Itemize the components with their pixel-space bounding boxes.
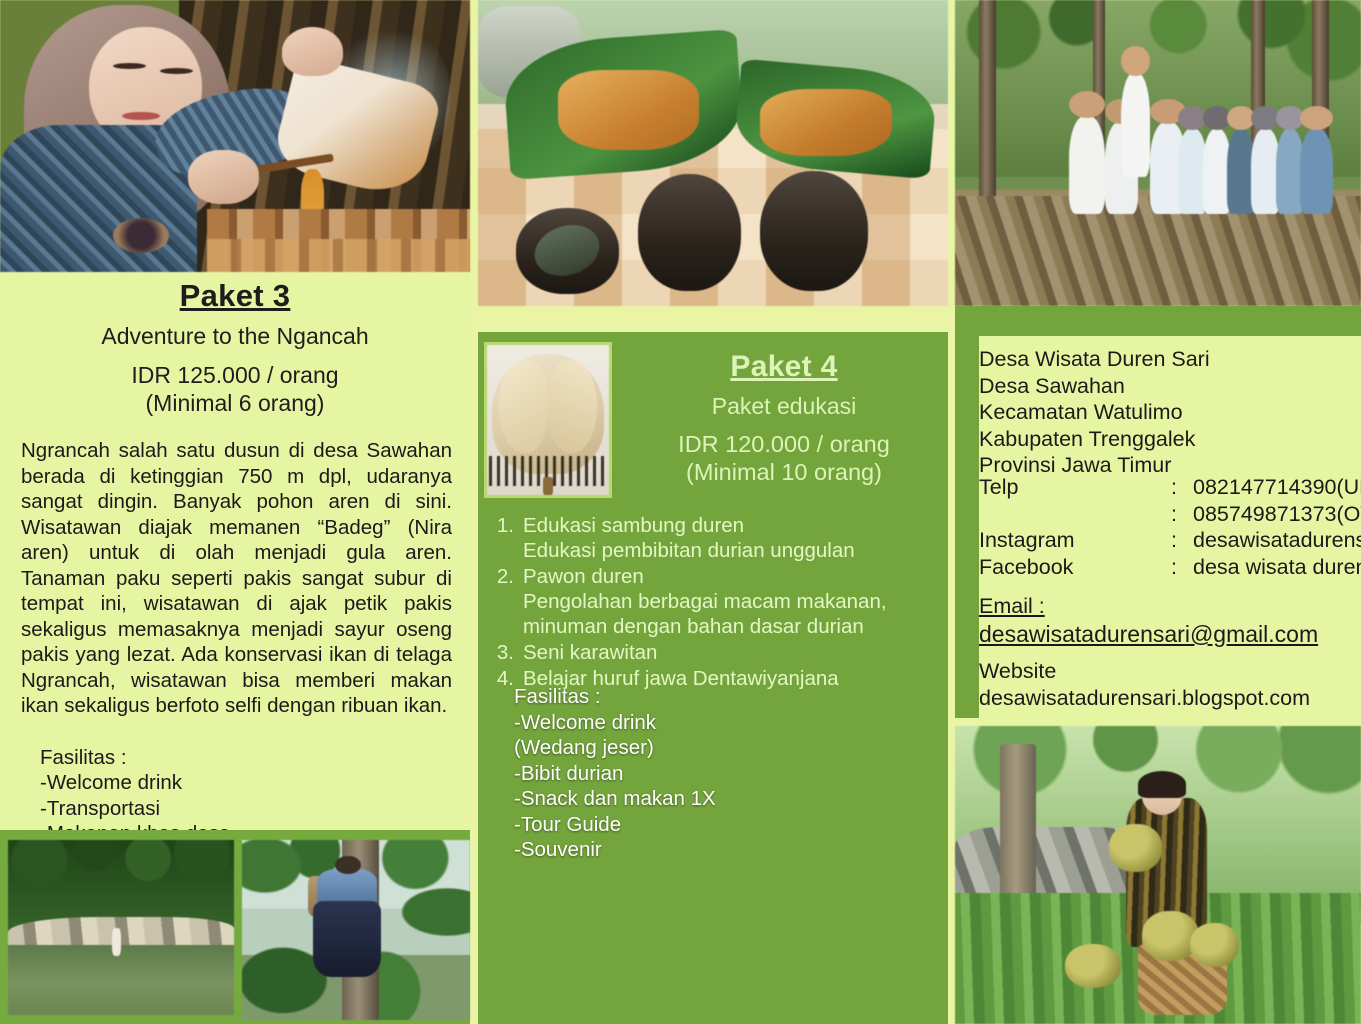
contact-value: desawisatadurens [1193,527,1361,554]
facility-item: -Welcome drink [40,770,470,796]
contact-label [979,501,1171,528]
list-item: 2. Pawon duren Pengolahan berbagai macam… [488,564,943,639]
list-number: 1. [488,513,523,563]
facility-item: -Transportasi [40,796,470,822]
email-address[interactable]: desawisatadurensari@gmail.com [979,620,1318,648]
facilities-heading: Fasilitas : [40,745,470,771]
list-number: 2. [488,564,523,639]
pond-river-conservation-photo [8,840,234,1015]
website-heading: Website [979,658,1310,685]
opened-durian-fruit-photo [487,345,609,495]
list-main: Edukasi sambung duren [523,514,744,537]
contact-colon: : [1171,554,1193,581]
address-line: Desa Sawahan [979,373,1210,400]
panel-left: Paket 3 Adventure to the Ngancah IDR 125… [0,0,470,1024]
list-text: Seni karawitan [523,640,943,665]
list-main: Pawon duren [523,565,644,588]
facility-item: -Souvenir [514,837,716,863]
woman-holding-durian-by-river-photo [955,726,1361,1024]
facilities-heading: Fasilitas : [514,684,716,710]
contact-value: 085749871373(OV [1193,501,1361,528]
contact-value: desa wisata duren [1193,554,1361,581]
contact-label: Instagram [979,527,1171,554]
contact-row-telp-2: : 085749871373(OV [979,501,1361,528]
man-climbing-tree-harvesting-photo [242,840,470,1020]
facility-item: -Tour Guide [514,812,716,838]
contact-row-facebook[interactable]: Facebook : desa wisata duren [979,554,1361,581]
panel-right-green-edge [955,306,979,718]
contact-value: 082147714390(UN [1193,474,1361,501]
contact-colon: : [1171,501,1193,528]
list-text: Edukasi sambung duren Edukasi pembibitan… [523,513,943,563]
paket3-minimum: (Minimal 6 orang) [0,390,470,417]
paket4-minimum: (Minimal 10 orang) [628,459,940,486]
paket3-description: Ngrancah salah satu dusun di desa Sawaha… [21,438,452,719]
paket4-title: Paket 4 [628,350,940,384]
list-item: 3. Seni karawitan [488,640,943,665]
panel-left-text: Paket 3 Adventure to the Ngancah IDR 125… [0,272,470,898]
list-main: Seni karawitan [523,641,657,664]
list-number: 3. [488,640,523,665]
paket4-activities-list: 1. Edukasi sambung duren Edukasi pembibi… [488,512,943,691]
contact-rows: Telp : 082147714390(UN : 085749871373(OV… [979,474,1361,580]
contact-label: Telp [979,474,1171,501]
panel-middle: Paket 4 Paket edukasi IDR 120.000 / oran… [478,332,948,1024]
website-block: Website desawisatadurensari.blogspot.com [979,658,1310,711]
paket4-price: IDR 120.000 / orang [628,431,940,458]
group-photo-durian-forest [955,0,1361,306]
brochure-page: Paket 3 Adventure to the Ngancah IDR 125… [0,0,1361,1024]
facility-item: -Welcome drink [514,710,716,736]
paket4-subtitle: Paket edukasi [628,393,940,420]
list-sub: Edukasi pembibitan durian unggulan [523,538,943,563]
paket3-price: IDR 125.000 / orang [0,362,470,389]
paket4-header: Paket 4 Paket edukasi IDR 120.000 / oran… [628,350,940,486]
contact-label: Facebook [979,554,1171,581]
email-heading: Email : [979,592,1318,620]
address-line: Kabupaten Trenggalek [979,426,1210,453]
facility-item: -Bibit durian [514,761,716,787]
woman-pouring-palm-sugar-photo [0,0,470,272]
paket3-title: Paket 3 [0,278,470,314]
contact-row-telp: Telp : 082147714390(UN [979,474,1361,501]
list-item: 1. Edukasi sambung duren Edukasi pembibi… [488,513,943,563]
organization-address: Desa Wisata Duren Sari Desa Sawahan Keca… [979,346,1210,479]
list-sub: Pengolahan berbagai macam makanan, minum… [523,589,943,639]
facility-item: (Wedang jeser) [514,735,716,761]
paket4-facilities: Fasilitas : -Welcome drink (Wedang jeser… [514,684,716,863]
address-line: Desa Wisata Duren Sari [979,346,1210,373]
address-line: Kecamatan Watulimo [979,399,1210,426]
paket3-subtitle: Adventure to the Ngancah [0,323,470,350]
durian-thumbnail-frame [484,342,612,498]
contact-colon: : [1171,527,1193,554]
facility-item: -Snack dan makan 1X [514,786,716,812]
website-address[interactable]: desawisatadurensari.blogspot.com [979,685,1310,712]
contact-colon: : [1171,474,1193,501]
contact-row-instagram[interactable]: Instagram : desawisatadurens [979,527,1361,554]
panel-right-green-bar [955,306,1361,336]
panel-right-contact: Desa Wisata Duren Sari Desa Sawahan Keca… [979,336,1361,726]
list-text: Pawon duren Pengolahan berbagai macam ma… [523,564,943,639]
traditional-food-banana-leaf-bowls-photo [478,0,948,306]
email-block: Email : desawisatadurensari@gmail.com [979,592,1318,648]
